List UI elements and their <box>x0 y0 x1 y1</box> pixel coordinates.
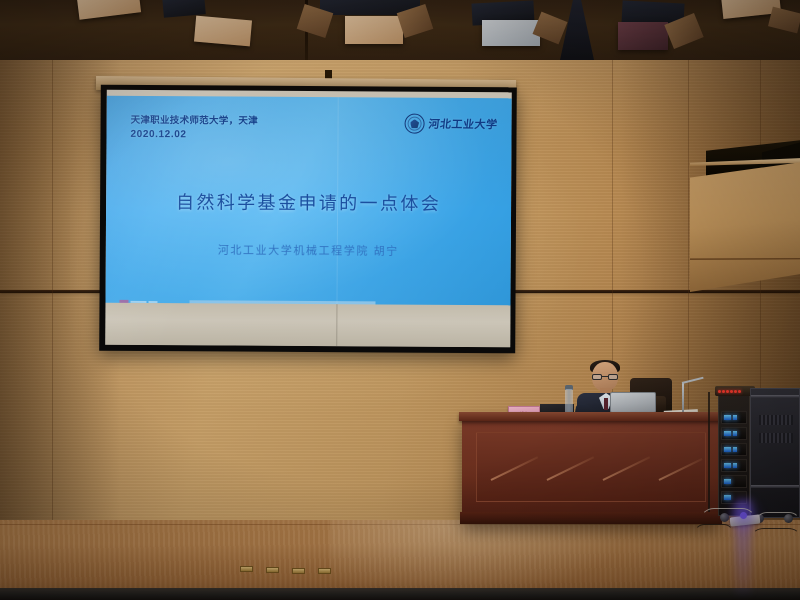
rack-unit-led <box>733 463 737 468</box>
projection-screen: 天津职业技术师范大学，天津 2020.12.02 河北工业大学 自然科学基金申请… <box>99 85 517 354</box>
desk-front-panel <box>476 432 706 502</box>
hanging-light-cone <box>560 0 594 60</box>
desk-inlay-line <box>547 456 595 481</box>
glasses-lens-left <box>592 374 602 380</box>
desk-inlay-line <box>491 456 539 481</box>
rack-unit-led <box>724 495 731 500</box>
university-seal-icon <box>405 114 425 134</box>
rack-status-led-strip <box>716 388 754 394</box>
ceiling-light-panel <box>482 20 540 46</box>
seal-core-glyph <box>410 119 419 128</box>
rack-led <box>738 390 741 393</box>
rack-unit-led <box>724 479 731 484</box>
slide-venue-line: 天津职业技术师范大学，天津 <box>131 115 258 127</box>
rack-led <box>726 390 729 393</box>
glasses-lens-right <box>608 374 618 380</box>
rack-unit[interactable] <box>721 427 747 440</box>
screen-surface: 天津职业技术师范大学，天津 2020.12.02 河北工业大学 自然科学基金申请… <box>105 90 512 347</box>
ceiling-panel <box>618 22 668 50</box>
rack-unit-led <box>733 431 737 436</box>
desk-plinth <box>460 512 722 524</box>
rack-led <box>722 390 725 393</box>
ceiling-panel <box>194 16 252 47</box>
road-case <box>750 388 800 518</box>
balcony-front-panel <box>690 162 800 292</box>
rack-unit-led <box>733 415 737 420</box>
slide-title: 自然科学基金申请的一点体会 <box>106 188 511 216</box>
desk-surface <box>459 412 723 421</box>
floor-socket-cover <box>292 568 305 574</box>
presenter-desk <box>462 418 720 524</box>
rack-led <box>730 390 733 393</box>
power-cable <box>708 392 710 512</box>
stage-front-edge <box>0 588 800 600</box>
rack-unit[interactable] <box>721 411 747 424</box>
lecture-hall-photo: 天津职业技术师范大学，天津 2020.12.02 河北工业大学 自然科学基金申请… <box>0 0 800 600</box>
rack-unit-led <box>724 415 731 420</box>
slide-date: 2020.12.02 <box>130 128 257 143</box>
side-balcony-box <box>690 140 800 315</box>
rack-unit-led <box>733 447 737 452</box>
rack-unit[interactable] <box>721 459 747 472</box>
ceiling-wedge <box>768 7 800 34</box>
balcony-panel-seam <box>690 258 800 260</box>
rack-unit[interactable] <box>721 443 747 456</box>
floor-socket-cover <box>240 566 253 572</box>
screen-unused-area <box>105 303 510 347</box>
presentation-slide: 天津职业技术师范大学，天津 2020.12.02 河北工业大学 自然科学基金申请… <box>105 96 511 316</box>
rack-unit-led <box>724 447 731 452</box>
ceiling-panel <box>345 16 403 44</box>
glasses-icon <box>592 374 618 380</box>
floor-cable <box>694 524 734 546</box>
case-vent-panel <box>759 433 793 443</box>
university-wordmark: 河北工业大学 <box>428 116 499 132</box>
rack-led <box>734 390 737 393</box>
rack-unit-led <box>724 463 731 468</box>
case-edge-band <box>751 395 799 398</box>
audio-equipment-rack <box>718 394 750 516</box>
case-edge-band <box>751 485 799 488</box>
desk-inlay-line <box>603 456 651 481</box>
desk-inlay-line <box>659 458 703 481</box>
rack-led <box>718 390 721 393</box>
slide-subtitle: 河北工业大学机械工程学院 胡宁 <box>106 241 511 259</box>
ceiling <box>0 0 800 62</box>
floor-socket-cover <box>266 567 279 573</box>
ceiling-panel <box>77 0 141 20</box>
rack-unit[interactable] <box>721 475 747 488</box>
stage-floor <box>0 520 800 600</box>
screen-seam <box>336 304 337 346</box>
laptop-screen <box>610 392 656 413</box>
university-logo: 河北工业大学 <box>405 114 498 135</box>
rack-unit-led <box>724 431 731 436</box>
slide-header: 天津职业技术师范大学，天津 2020.12.02 <box>130 114 258 143</box>
floor-socket-cover <box>318 568 331 574</box>
floor-cable <box>752 528 800 544</box>
case-vent-panel <box>759 415 793 425</box>
